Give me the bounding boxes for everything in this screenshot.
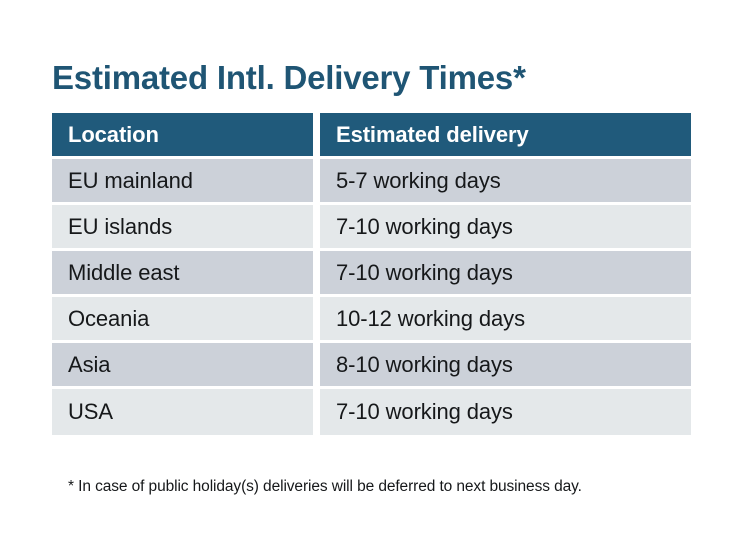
cell-location: Asia (52, 343, 320, 389)
table-header: Location Estimated delivery (52, 113, 691, 159)
table-row: Middle east 7-10 working days (52, 251, 691, 297)
cell-delivery: 7-10 working days (320, 205, 691, 251)
cell-delivery: 5-7 working days (320, 159, 691, 205)
table-row: EU mainland 5-7 working days (52, 159, 691, 205)
table-body: EU mainland 5-7 working days EU islands … (52, 159, 691, 435)
cell-location: Oceania (52, 297, 320, 343)
table-row: Oceania 10-12 working days (52, 297, 691, 343)
column-header-estimated-delivery: Estimated delivery (320, 113, 691, 159)
delivery-times-table: Location Estimated delivery EU mainland … (52, 113, 691, 435)
column-header-location: Location (52, 113, 320, 159)
table-header-row: Location Estimated delivery (52, 113, 691, 159)
cell-location: EU islands (52, 205, 320, 251)
table-row: USA 7-10 working days (52, 389, 691, 435)
delivery-times-page: Estimated Intl. Delivery Times* Location… (0, 0, 745, 536)
cell-delivery: 7-10 working days (320, 251, 691, 297)
cell-delivery: 10-12 working days (320, 297, 691, 343)
page-title: Estimated Intl. Delivery Times* (52, 58, 526, 98)
cell-delivery: 8-10 working days (320, 343, 691, 389)
cell-delivery: 7-10 working days (320, 389, 691, 435)
table-row: Asia 8-10 working days (52, 343, 691, 389)
cell-location: USA (52, 389, 320, 435)
cell-location: Middle east (52, 251, 320, 297)
cell-location: EU mainland (52, 159, 320, 205)
table-row: EU islands 7-10 working days (52, 205, 691, 251)
footnote: * In case of public holiday(s) deliverie… (68, 478, 582, 496)
